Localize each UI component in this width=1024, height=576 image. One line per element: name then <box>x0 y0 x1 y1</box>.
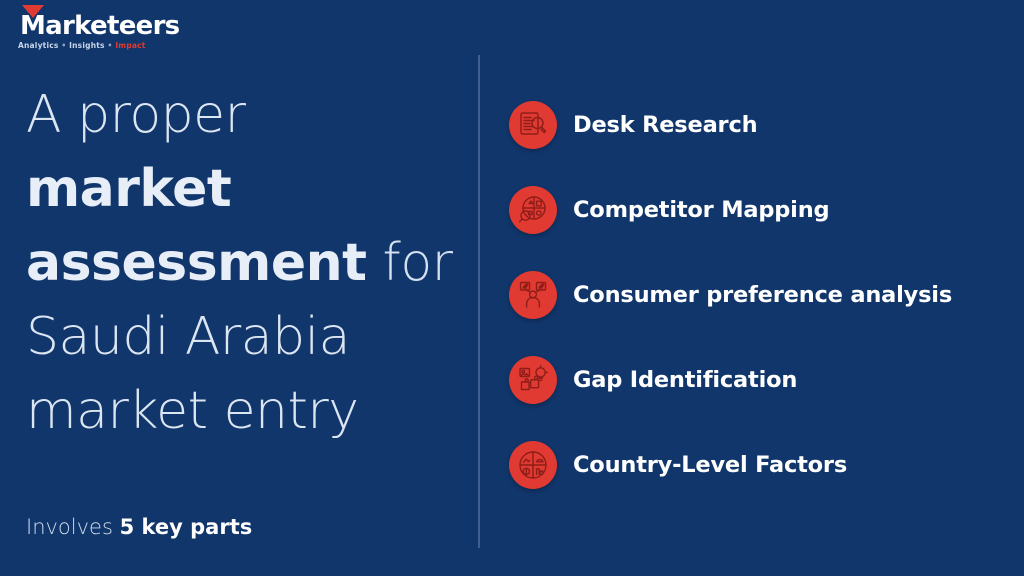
footnote: Involves 5 key parts <box>26 512 252 542</box>
logo-tagline-impact: Impact <box>115 41 145 50</box>
puzzle-lightbulb-icon <box>509 356 557 404</box>
headline-line-1: A proper <box>26 78 456 152</box>
headline-line-2: market <box>26 152 456 226</box>
logo-tagline-sep-1: • <box>59 41 70 50</box>
logo-tagline-analytics: Analytics <box>18 41 59 50</box>
list-item-label: Consumer preference analysis <box>573 284 952 307</box>
brand-logo: Marketeers Analytics • Insights • Impact <box>18 12 158 54</box>
list-item-label: Desk Research <box>573 114 757 137</box>
list-item-label: Gap Identification <box>573 369 797 392</box>
person-choice-icon <box>509 271 557 319</box>
headline-line-4: Saudi Arabia <box>26 300 456 374</box>
headline-line-5: market entry <box>26 374 456 448</box>
vertical-divider <box>478 55 480 548</box>
headline-line-3-bold: assessment <box>26 233 367 293</box>
headline-line-2-text: market <box>26 159 231 219</box>
page-title: A proper market assessment for Saudi Ara… <box>26 78 456 448</box>
red-triangle-mark-icon <box>22 5 44 18</box>
logo-tagline-sep-2: • <box>105 41 116 50</box>
list-item[interactable]: Consumer preference analysis <box>509 270 1014 320</box>
list-item[interactable]: Desk Research <box>509 100 1014 150</box>
four-quadrant-globe-icon <box>509 441 557 489</box>
list-item[interactable]: Gap Identification <box>509 355 1014 405</box>
list-item-label: Competitor Mapping <box>573 199 829 222</box>
logo-tagline: Analytics • Insights • Impact <box>18 41 158 50</box>
map-grid-magnifier-icon <box>509 186 557 234</box>
footnote-prefix: Involves <box>26 515 120 539</box>
logo-wordmark: Marketeers <box>18 12 158 40</box>
document-magnifier-icon <box>509 101 557 149</box>
list-item-label: Country-Level Factors <box>573 454 847 477</box>
headline-line-3-light: for <box>367 233 453 293</box>
headline-line-3: assessment for <box>26 226 456 300</box>
list-item[interactable]: Competitor Mapping <box>509 185 1014 235</box>
logo-tagline-insights: Insights <box>69 41 105 50</box>
list-item[interactable]: Country-Level Factors <box>509 440 1014 490</box>
footnote-emphasis: 5 key parts <box>120 515 253 539</box>
key-parts-list: Desk Research Competitor Mapping <box>509 100 1014 490</box>
